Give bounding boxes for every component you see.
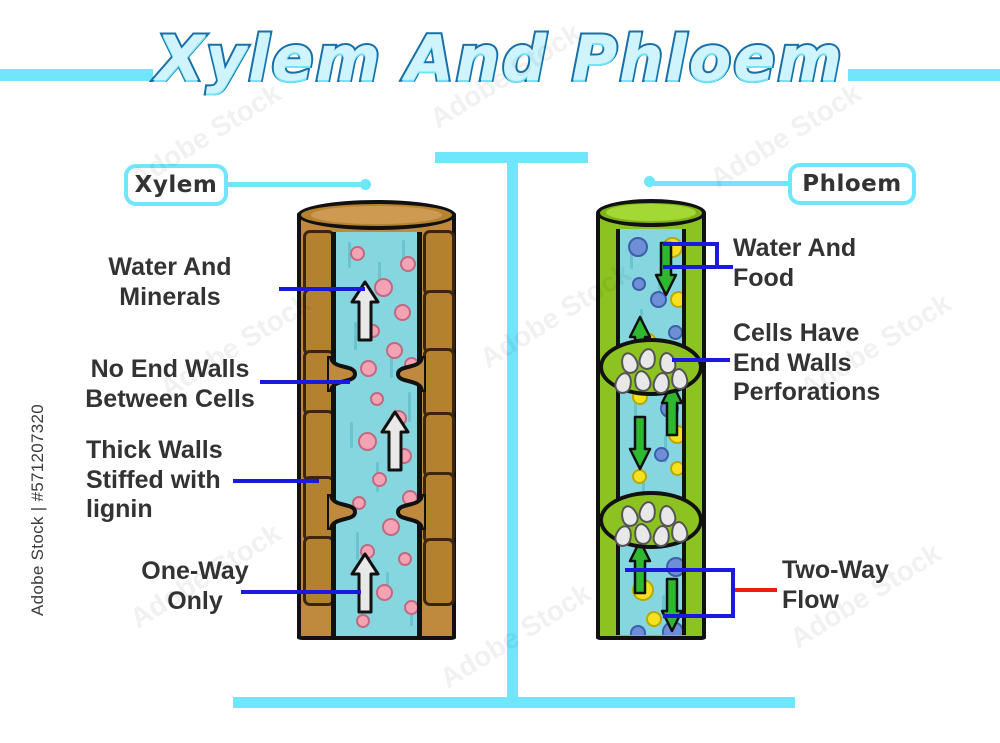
xylem-particle	[356, 614, 370, 628]
xylem-particle	[350, 246, 365, 261]
phloem-leader-dot	[644, 176, 655, 187]
phloem-label-text: Phloem	[802, 171, 901, 197]
xylem-wall-cell	[423, 230, 455, 296]
phloem-particle-blue	[654, 447, 669, 462]
xylem-flow-arrow-up	[350, 552, 380, 614]
phloem-particle-yellow	[632, 469, 647, 484]
pointer-two-way-top	[625, 568, 735, 572]
stock-credit-watermark: Adobe Stock | #571207320	[28, 380, 48, 640]
phloem-particle-blue	[666, 557, 686, 577]
diagram-canvas: Xylem And Phloem Xylem Phloem	[0, 0, 1000, 743]
pointer-two-way-bottom	[663, 614, 735, 618]
phloem-particle-blue	[632, 277, 646, 291]
xylem-leader-dot	[360, 179, 371, 190]
xylem-wall-cell	[423, 348, 455, 418]
pointer-cells-have-end-walls	[672, 358, 730, 362]
phloem-flow-arrow-down	[654, 241, 678, 297]
xylem-label-text: Xylem	[135, 172, 218, 198]
xylem-leader-line	[226, 182, 366, 187]
phloem-sieve-plate	[599, 338, 703, 396]
xylem-flow-arrow-up	[380, 410, 410, 472]
phloem-particle-yellow	[670, 461, 685, 476]
decor-bar-bottom	[233, 697, 795, 708]
xylem-particle	[404, 600, 419, 615]
caption-no-end-walls: No End Walls Between Cells	[60, 355, 280, 414]
xylem-wall-cell	[423, 412, 455, 478]
caption-two-way-flow: Two-Way Flow	[782, 556, 982, 615]
xylem-wall-cell	[423, 472, 455, 544]
caption-one-way-only: One-Way Only	[110, 557, 280, 616]
xylem-particle	[372, 472, 387, 487]
phloem-leader-line	[646, 181, 792, 186]
xylem-tube-illustration	[297, 200, 456, 642]
pointer-water-food-top	[663, 242, 719, 246]
phloem-particle-blue	[668, 325, 683, 340]
page-title: Xylem And Phloem	[0, 28, 1000, 90]
pointer-water-food-bottom	[663, 265, 733, 269]
xylem-top-rim-inner	[311, 206, 442, 224]
xylem-wall-cell	[423, 538, 455, 606]
caption-cells-have-end-walls: Cells Have End Walls Perforations	[733, 319, 983, 408]
pointer-two-way-vertical	[731, 568, 735, 618]
decor-divider-stem	[507, 152, 518, 704]
phloem-sieve-plate	[599, 491, 703, 549]
phloem-flow-arrow-down	[628, 415, 652, 471]
xylem-particle	[370, 392, 384, 406]
phloem-particle-blue	[630, 625, 646, 635]
xylem-particle	[398, 552, 412, 566]
phloem-flow-arrow-down	[660, 577, 684, 633]
phloem-particle-blue	[628, 237, 648, 257]
phloem-label-badge[interactable]: Phloem	[788, 163, 916, 205]
pointer-water-minerals	[279, 287, 365, 291]
page-title-text: Xylem And Phloem	[156, 22, 844, 95]
xylem-particle	[394, 304, 411, 321]
caption-water-and-minerals: Water And Minerals	[60, 253, 280, 312]
caption-thick-walls: Thick Walls Stiffed with lignin	[60, 436, 306, 525]
xylem-particle	[400, 256, 416, 272]
phloem-top-rim-inner	[606, 204, 696, 221]
xylem-lumen	[331, 232, 422, 636]
phloem-lumen	[616, 229, 686, 635]
caption-water-and-food: Water And Food	[733, 234, 963, 293]
xylem-constriction	[327, 494, 426, 530]
xylem-particle	[358, 432, 377, 451]
pointer-two-way-red-connector	[735, 588, 777, 592]
xylem-label-badge[interactable]: Xylem	[124, 164, 228, 206]
xylem-wall-cell	[423, 290, 455, 354]
xylem-constriction	[327, 356, 426, 392]
